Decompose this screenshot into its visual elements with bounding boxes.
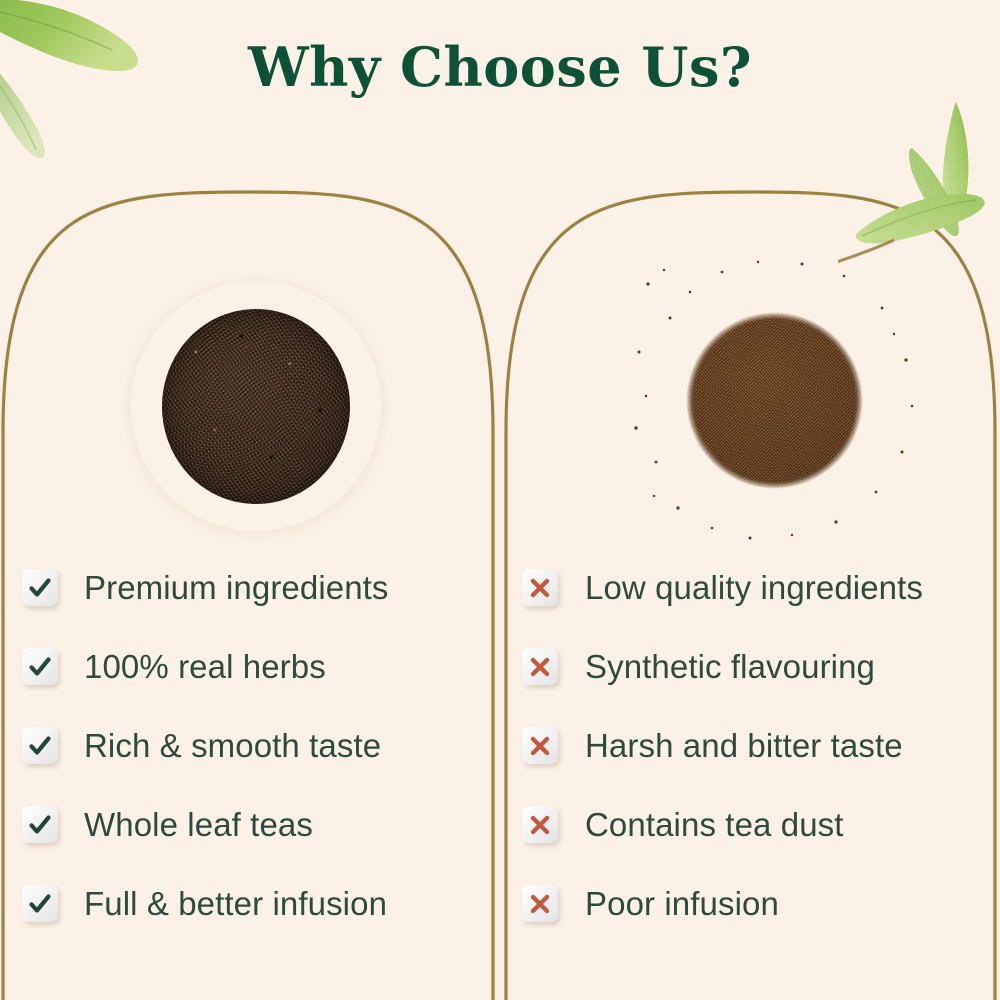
list-item-label: 100% real herbs [84, 650, 326, 683]
check-icon [22, 806, 58, 843]
tea-granules [162, 309, 350, 504]
why-choose-us-infographic: Why Choose Us? [0, 0, 1000, 1000]
list-item: Harsh and bitter taste [522, 706, 992, 785]
page-title: Why Choose Us? [0, 40, 1000, 94]
cross-icon [522, 648, 558, 685]
check-icon [22, 648, 58, 685]
list-item: Premium ingredients [22, 548, 482, 627]
list-item: Full & better infusion [22, 864, 482, 943]
cross-icon [522, 885, 558, 922]
cross-icon [522, 727, 558, 764]
list-item: Synthetic flavouring [522, 627, 992, 706]
list-item: Low quality ingredients [522, 548, 992, 627]
list-item-label: Poor infusion [585, 887, 779, 920]
list-item-label: Low quality ingredients [585, 571, 923, 604]
benefits-list-left: Premium ingredients 100% real herbs Rich… [22, 548, 482, 943]
list-item-label: Contains tea dust [585, 808, 844, 841]
list-item-label: Full & better infusion [84, 887, 387, 920]
list-item-label: Synthetic flavouring [585, 650, 875, 683]
whole-leaf-tea-bowl-image [131, 281, 381, 531]
list-item: Rich & smooth taste [22, 706, 482, 785]
list-item: Contains tea dust [522, 785, 992, 864]
check-icon [22, 569, 58, 606]
list-item: 100% real herbs [22, 627, 482, 706]
list-item-label: Premium ingredients [84, 571, 389, 604]
cross-icon [522, 569, 558, 606]
drawbacks-list-right: Low quality ingredients Synthetic flavou… [522, 548, 992, 943]
list-item: Poor infusion [522, 864, 992, 943]
cross-icon [522, 806, 558, 843]
tea-leaf-sprig-icon [838, 88, 1000, 278]
tea-dust-pile-image [652, 278, 897, 523]
check-icon [22, 727, 58, 764]
list-item-label: Rich & smooth taste [84, 729, 381, 762]
list-item: Whole leaf teas [22, 785, 482, 864]
list-item-label: Whole leaf teas [84, 808, 313, 841]
check-icon [22, 885, 58, 922]
list-item-label: Harsh and bitter taste [585, 729, 903, 762]
